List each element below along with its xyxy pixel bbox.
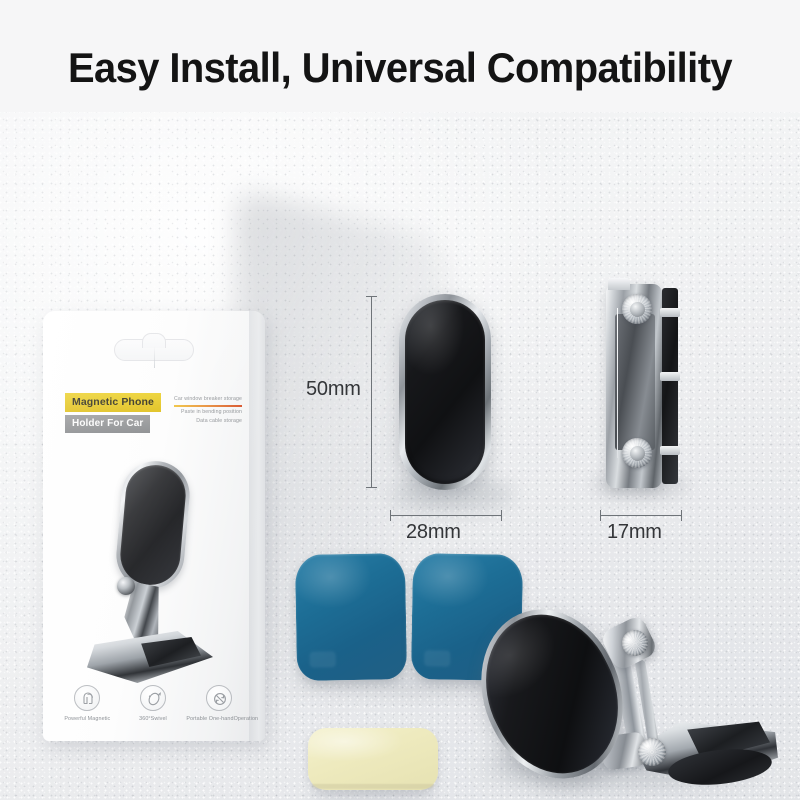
thickness-dimension-label: 17mm bbox=[607, 521, 662, 544]
plate-surface-mark bbox=[310, 652, 336, 668]
dimension-cap-left bbox=[600, 510, 601, 521]
width-dimension-line bbox=[390, 510, 502, 521]
illustration-magnetic-pad bbox=[114, 458, 193, 591]
alcohol-cleaning-wipe bbox=[308, 728, 438, 790]
dimension-cap-left bbox=[390, 510, 391, 521]
package-product-illustration bbox=[79, 461, 229, 689]
dimension-bar bbox=[390, 515, 502, 516]
product-marketing-image: Magnetic Phone Holder For Car Car window… bbox=[0, 0, 800, 800]
package-title-secondary: Holder For Car bbox=[65, 415, 150, 433]
dimension-bar bbox=[371, 296, 372, 488]
product-photo-scene: Magnetic Phone Holder For Car Car window… bbox=[0, 104, 800, 800]
headline-band: Easy Install, Universal Compatibility bbox=[0, 0, 800, 112]
page-title: Easy Install, Universal Compatibility bbox=[20, 44, 780, 92]
dimension-cap-top bbox=[366, 296, 377, 297]
blue-metal-plate bbox=[295, 553, 407, 681]
feature-label: Portable One-handOperation bbox=[186, 716, 251, 723]
feature-label: Powerful Magnetic bbox=[55, 716, 120, 723]
package-side-fold bbox=[249, 311, 265, 741]
hang-slot-crease bbox=[154, 346, 155, 368]
thickness-dimension-line bbox=[600, 510, 682, 521]
package-title-primary: Magnetic Phone bbox=[65, 393, 161, 412]
package-feature-row: Powerful Magnetic 360°Swivel bbox=[55, 685, 251, 723]
plate-surface-mark bbox=[424, 651, 450, 667]
feature-label: 360°Swivel bbox=[121, 716, 186, 723]
package-copy-line-2: Paste in bending position bbox=[174, 408, 242, 417]
feature-one-hand-operation: Portable One-handOperation bbox=[186, 685, 251, 723]
package-feature-copy: Car window breaker storage Paste in bend… bbox=[174, 395, 242, 426]
oval-magnetic-mount-front bbox=[399, 294, 491, 490]
wipe-edge bbox=[312, 784, 434, 789]
dimension-cap-right bbox=[681, 510, 682, 521]
profile-clip bbox=[660, 308, 680, 317]
width-dimension-label: 28mm bbox=[406, 521, 461, 544]
package-copy-line-1: Car window breaker storage bbox=[174, 395, 242, 404]
retail-package-box: Magnetic Phone Holder For Car Car window… bbox=[43, 311, 265, 741]
mount-black-surface bbox=[405, 300, 485, 484]
unfolded-magnetic-car-holder bbox=[482, 600, 782, 790]
holder-knurled-knob-lower bbox=[638, 738, 666, 766]
package-copy-line-3: Data cable storage bbox=[174, 417, 242, 426]
profile-seam bbox=[617, 308, 618, 458]
magnet-icon bbox=[74, 685, 100, 711]
folded-mount-side-profile bbox=[600, 278, 686, 494]
profile-clip bbox=[660, 446, 680, 455]
illustration-pad-surface bbox=[118, 463, 188, 588]
feature-360-swivel: 360°Swivel bbox=[121, 685, 186, 723]
hang-slot-icon bbox=[114, 339, 194, 361]
rotate-disc-icon bbox=[140, 685, 166, 711]
height-dimension-line bbox=[366, 296, 377, 488]
dimension-cap-bottom bbox=[366, 487, 377, 488]
one-hand-rotate-icon bbox=[206, 685, 232, 711]
profile-hinge-top bbox=[622, 294, 652, 324]
dimension-cap-right bbox=[501, 510, 502, 521]
profile-hinge-bottom bbox=[622, 438, 652, 468]
dimension-bar bbox=[600, 515, 682, 516]
illustration-hinge bbox=[117, 577, 135, 595]
package-copy-accent-rule bbox=[174, 405, 242, 407]
feature-powerful-magnetic: Powerful Magnetic bbox=[55, 685, 120, 723]
profile-inner-window bbox=[615, 314, 655, 450]
profile-clip bbox=[660, 372, 680, 381]
height-dimension-label: 50mm bbox=[306, 378, 361, 401]
profile-top-tab bbox=[608, 278, 630, 290]
